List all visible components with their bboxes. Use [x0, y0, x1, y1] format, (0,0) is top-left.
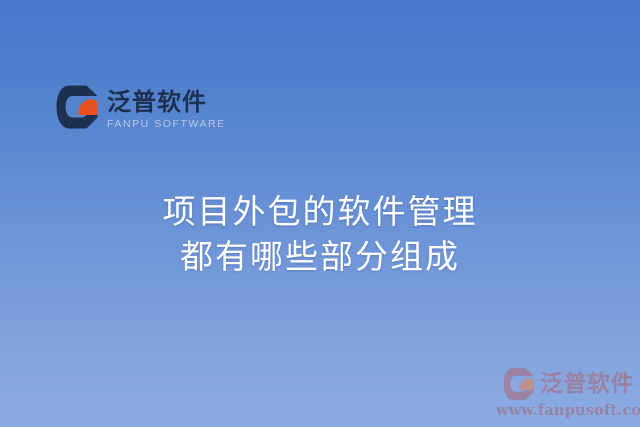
watermark-logo-row: 泛普软件 — [496, 367, 634, 401]
page-title-line-2: 都有哪些部分组成 — [0, 234, 640, 279]
brand-logo[interactable]: 泛普软件 FANPU SOFTWARE — [56, 84, 226, 131]
brand-wordmark: 泛普软件 FANPU SOFTWARE — [107, 84, 226, 131]
page-title-line-1: 项目外包的软件管理 — [0, 189, 640, 234]
watermark: 泛普软件 www.fanpusoft.com — [496, 367, 634, 419]
slide-canvas: 泛普软件 FANPU SOFTWARE 项目外包的软件管理 都有哪些部分组成 泛… — [0, 0, 640, 427]
fanpu-logo-watermark-icon — [503, 367, 536, 401]
watermark-url: www.fanpusoft.com — [496, 402, 634, 419]
page-title: 项目外包的软件管理 都有哪些部分组成 — [0, 189, 640, 279]
brand-name-cn: 泛普软件 — [107, 89, 226, 116]
fanpu-logo-icon — [56, 84, 100, 130]
brand-name-en: FANPU SOFTWARE — [107, 117, 226, 131]
watermark-name-cn: 泛普软件 — [540, 371, 634, 397]
